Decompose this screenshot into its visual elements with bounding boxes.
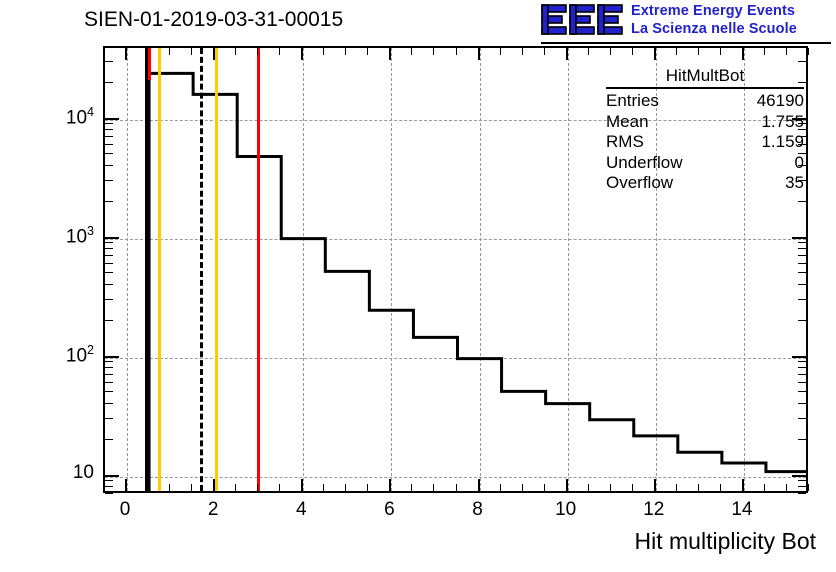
stats-row: Mean1.755	[604, 112, 806, 133]
x-axis-tick	[610, 484, 611, 491]
x-axis-tick-top	[698, 48, 699, 55]
x-axis-tick-top	[367, 48, 368, 55]
stats-value: 35	[727, 173, 806, 194]
x-axis-tick-top	[257, 48, 258, 55]
x-axis-tick-top	[169, 48, 170, 55]
x-axis-tick-top	[147, 48, 148, 55]
x-axis-tick-top	[456, 48, 457, 55]
x-axis-tick	[544, 484, 545, 491]
x-axis-tick	[433, 484, 434, 491]
x-axis-tick-top	[742, 48, 744, 60]
y-axis-tick-right	[798, 391, 806, 392]
x-axis-tick-top	[632, 48, 633, 55]
stats-key: Underflow	[604, 153, 727, 174]
stats-value: 1.755	[727, 112, 806, 133]
x-axis-tick-top	[610, 48, 611, 55]
marker-line-yellow-right	[215, 48, 218, 491]
y-axis-tick	[105, 367, 113, 368]
y-axis-tick-right	[792, 118, 806, 120]
x-axis-tick	[522, 484, 523, 491]
x-axis-tick	[411, 484, 412, 491]
y-axis-tick	[105, 82, 113, 83]
y-axis-tick	[105, 493, 113, 494]
marker-line-yellow-left	[158, 48, 161, 491]
y-axis-tick-right	[798, 361, 806, 362]
x-axis-tick	[588, 484, 589, 491]
logo-line-1: Extreme Energy Events	[631, 3, 797, 21]
y-axis-tick-right	[798, 129, 806, 130]
x-axis-tick	[500, 484, 501, 491]
y-axis-tick-right	[798, 255, 806, 256]
y-tick-label: 10	[8, 462, 94, 484]
stats-row: RMS1.159	[604, 132, 806, 153]
y-axis-tick	[105, 165, 113, 166]
x-axis-tick	[169, 484, 170, 491]
y-axis-tick-right	[798, 165, 806, 166]
x-axis-tick	[257, 484, 258, 491]
y-axis-tick-right	[798, 493, 806, 494]
x-axis-tick	[235, 484, 236, 491]
x-axis-tick	[147, 484, 148, 491]
x-axis-tick-top	[323, 48, 324, 55]
x-axis-tick-top	[411, 48, 412, 55]
y-axis-tick	[105, 153, 113, 154]
x-tick-label: 4	[271, 499, 331, 521]
stats-value: 0	[727, 153, 806, 174]
x-axis-tick	[632, 484, 633, 491]
logo-line-2: La Scienza nelle Scuole	[631, 21, 797, 39]
x-axis-tick-top	[764, 48, 765, 55]
y-axis-tick-right	[798, 403, 806, 404]
eee-logo-block: Extreme Energy Events La Scienza nelle S…	[541, 2, 833, 42]
y-axis-tick-right	[798, 299, 806, 300]
x-axis-tick-top	[279, 48, 280, 55]
y-axis-tick-right	[798, 263, 806, 264]
y-axis-tick	[105, 403, 113, 404]
stats-key: RMS	[604, 132, 727, 153]
y-axis-tick-right	[798, 418, 806, 419]
y-axis-tick-right	[798, 284, 806, 285]
x-axis-tick	[742, 479, 744, 491]
x-axis-tick-top	[478, 48, 480, 60]
stats-table: Entries46190Mean1.755RMS1.159Underflow0O…	[604, 91, 806, 194]
x-tick-label: 0	[95, 499, 155, 521]
y-axis-tick-right	[798, 439, 806, 440]
x-axis-tick	[213, 479, 215, 491]
y-axis-tick-right	[798, 242, 806, 243]
x-tick-label: 12	[624, 499, 684, 521]
y-axis-tick-right	[798, 144, 806, 145]
y-axis-tick	[105, 201, 113, 202]
y-axis-tick-right	[798, 374, 806, 375]
y-axis-tick-right	[798, 272, 806, 273]
y-axis-tick	[105, 480, 113, 481]
y-axis-tick-right	[798, 61, 806, 62]
y-axis-tick-right	[798, 180, 806, 181]
y-tick-label: 104	[8, 105, 94, 129]
x-tick-label: 10	[536, 499, 596, 521]
y-axis-tick	[105, 374, 113, 375]
y-axis-tick	[105, 356, 119, 358]
y-axis-tick	[105, 180, 113, 181]
y-axis-tick-right	[798, 153, 806, 154]
x-tick-label: 14	[712, 499, 772, 521]
y-axis-tick-right	[798, 382, 806, 383]
logo-underline	[541, 42, 831, 44]
x-axis-tick-top	[720, 48, 721, 55]
y-axis-tick	[105, 237, 119, 239]
x-axis-tick	[654, 479, 656, 491]
y-axis-tick-right	[792, 237, 806, 239]
x-axis-tick-top	[125, 48, 127, 60]
x-axis-tick	[125, 479, 127, 491]
y-axis-tick	[105, 320, 113, 321]
y-axis-tick-right	[798, 320, 806, 321]
y-axis-tick	[105, 255, 113, 256]
x-axis-tick-top	[544, 48, 545, 55]
x-axis-tick	[478, 479, 480, 491]
y-axis-tick	[105, 299, 113, 300]
y-axis-tick	[105, 129, 113, 130]
x-tick-label: 6	[359, 499, 419, 521]
stats-row: Entries46190	[604, 91, 806, 112]
x-axis-tick	[786, 484, 787, 491]
x-axis-tick-top	[808, 48, 809, 55]
x-axis-title: Hit multiplicity Bot	[635, 528, 816, 555]
y-axis-tick	[105, 486, 113, 487]
x-axis-tick	[323, 484, 324, 491]
y-axis-tick	[105, 391, 113, 392]
x-axis-tick-top	[345, 48, 346, 55]
x-tick-label: 8	[448, 499, 508, 521]
x-axis-tick-top	[500, 48, 501, 55]
y-axis-tick	[105, 118, 119, 120]
x-axis-tick	[808, 484, 809, 491]
stats-key: Entries	[604, 91, 727, 112]
y-axis-tick-right	[792, 356, 806, 358]
x-axis-tick-top	[389, 48, 391, 60]
x-axis-tick-top	[654, 48, 656, 60]
x-axis-tick-top	[676, 48, 677, 55]
x-axis-tick-top	[301, 48, 303, 60]
stats-row: Underflow0	[604, 153, 806, 174]
x-axis-tick	[191, 484, 192, 491]
y-axis-tick-right	[798, 123, 806, 124]
y-axis-tick-right	[798, 82, 806, 83]
x-axis-tick-top	[566, 48, 568, 60]
stats-key: Overflow	[604, 173, 727, 194]
x-axis-tick	[456, 484, 457, 491]
stats-divider	[606, 87, 804, 89]
x-axis-tick	[301, 479, 303, 491]
marker-line-black-dashed-mean	[200, 48, 203, 491]
y-axis-tick-right	[798, 201, 806, 202]
y-axis-tick	[105, 361, 113, 362]
y-axis-tick	[105, 272, 113, 273]
eee-logo-text: Extreme Energy Events La Scienza nelle S…	[631, 3, 797, 38]
y-axis-tick	[105, 61, 113, 62]
y-axis-tick-right	[798, 136, 806, 137]
y-axis-tick	[105, 418, 113, 419]
y-tick-label: 103	[8, 224, 94, 248]
x-axis-tick	[367, 484, 368, 491]
stats-row: Overflow35	[604, 173, 806, 194]
x-axis-tick-top	[433, 48, 434, 55]
y-axis-tick	[105, 242, 113, 243]
y-axis-tick-right	[798, 46, 806, 47]
x-axis-tick-top	[786, 48, 787, 55]
stats-box: HitMultBot Entries46190Mean1.755RMS1.159…	[604, 66, 806, 194]
y-tick-label: 102	[8, 343, 94, 367]
x-axis-tick	[566, 479, 568, 491]
x-axis-tick	[676, 484, 677, 491]
x-axis-tick	[698, 484, 699, 491]
y-axis-tick-right	[798, 486, 806, 487]
x-axis-tick	[103, 484, 104, 491]
x-axis-tick	[764, 484, 765, 491]
x-axis-tick	[279, 484, 280, 491]
x-axis-tick	[389, 479, 391, 491]
y-axis-tick	[105, 136, 113, 137]
y-axis-tick-right	[792, 475, 806, 477]
x-axis-tick-top	[588, 48, 589, 55]
x-axis-tick-top	[191, 48, 192, 55]
stats-value: 1.159	[727, 132, 806, 153]
x-axis-tick-top	[522, 48, 523, 55]
stats-key: Mean	[604, 112, 727, 133]
y-axis-tick	[105, 123, 113, 124]
y-axis-tick	[105, 46, 113, 47]
y-axis-tick	[105, 248, 113, 249]
x-axis-tick-top	[103, 48, 104, 55]
y-axis-tick	[105, 144, 113, 145]
marker-line-black-solid-left	[145, 48, 148, 491]
y-axis-tick	[105, 284, 113, 285]
y-axis-tick-right	[798, 248, 806, 249]
y-axis-tick	[105, 382, 113, 383]
x-tick-label: 2	[183, 499, 243, 521]
y-axis-tick	[105, 475, 119, 477]
stats-title: HitMultBot	[604, 66, 806, 87]
x-axis-tick	[720, 484, 721, 491]
x-axis-tick	[345, 484, 346, 491]
y-axis-tick-right	[798, 367, 806, 368]
x-axis-tick-top	[235, 48, 236, 55]
y-axis-tick	[105, 439, 113, 440]
y-axis-tick-right	[798, 480, 806, 481]
marker-line-red-right	[257, 48, 260, 491]
page-title: SIEN-01-2019-03-31-00015	[84, 8, 343, 32]
eee-logo-icon	[541, 3, 625, 37]
y-axis-tick	[105, 263, 113, 264]
x-axis-tick-top	[213, 48, 215, 60]
stats-value: 46190	[727, 91, 806, 112]
